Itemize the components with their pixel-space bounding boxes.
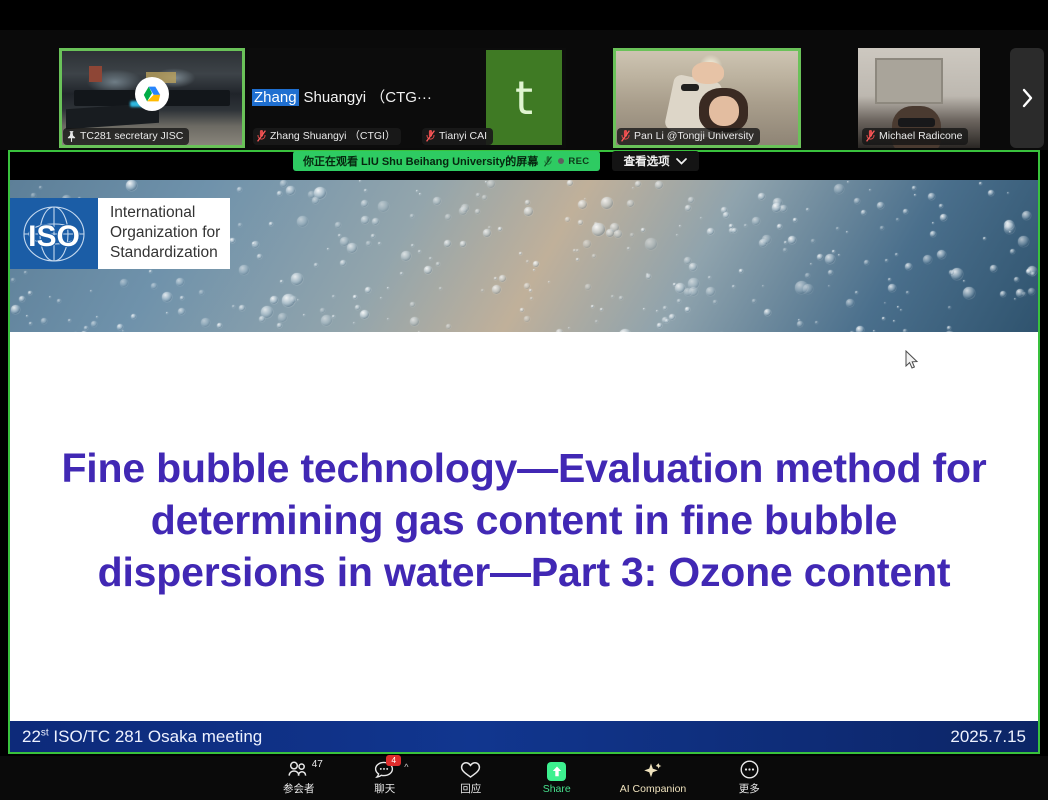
tile-name-text: Michael Radicone <box>879 129 962 143</box>
video-tile-michael-radicone[interactable]: Michael Radicone <box>858 48 980 148</box>
toolbar-reactions-button[interactable]: 回应 <box>448 760 494 796</box>
tile-name-chip: Tianyi CAI <box>422 128 493 145</box>
pin-icon <box>67 131 76 142</box>
iso-logo-wordmark: International Organization for Standardi… <box>98 198 230 269</box>
toolbar-ai-companion-button[interactable]: AI Companion <box>620 762 687 795</box>
next-page-button[interactable] <box>1010 48 1044 148</box>
heart-icon <box>460 760 481 779</box>
video-tile-tc281-secretary[interactable]: TC281 secretary JISC <box>59 48 245 148</box>
slide-title: Fine bubble technology—Evaluation method… <box>59 442 989 598</box>
toolbar-share-label: Share <box>543 783 571 795</box>
share-status-text: 你正在观看 LIU Shu Beihang University的屏幕 <box>303 153 538 169</box>
mic-muted-icon <box>257 130 266 142</box>
toolbar-more-label: 更多 <box>739 781 760 796</box>
tile-decor <box>692 62 724 84</box>
iso-logo: ISO International Organization for Stand… <box>10 198 230 269</box>
share-status-pill: 你正在观看 LIU Shu Beihang University的屏幕 REC <box>293 151 600 171</box>
toolbar-ai-companion-label: AI Companion <box>620 783 687 795</box>
tile-decor <box>898 118 935 127</box>
toolbar-more-button[interactable]: 更多 <box>726 760 772 796</box>
iso-logo-line-3: Standardization <box>110 243 220 263</box>
tile-name-chip: Michael Radicone <box>862 128 968 145</box>
iso-logo-line-1: International <box>110 203 220 223</box>
tile-name-chip: TC281 secretary JISC <box>63 128 189 145</box>
tile-decor <box>681 84 700 91</box>
view-options-label: 查看选项 <box>624 153 670 169</box>
footer-meeting-number: 22 <box>22 727 41 746</box>
avatar-letter: t <box>515 75 533 121</box>
record-dot-icon <box>558 158 564 164</box>
screen-share-status-bar: 你正在观看 LIU Shu Beihang University的屏幕 REC … <box>293 151 699 171</box>
active-speaker-banner: Zhang Shuangyi （CTG··· <box>252 86 432 107</box>
slide-title-area: Fine bubble technology—Evaluation method… <box>10 355 1038 685</box>
chat-icon: 4 ^ <box>374 760 395 779</box>
footer-ordinal-suffix: st <box>41 727 49 738</box>
participants-icon: 47 <box>288 760 310 779</box>
recording-label: REC <box>568 156 589 167</box>
tile-decor <box>709 96 739 126</box>
presentation-slide: ISO International Organization for Stand… <box>10 180 1038 752</box>
chevron-up-icon[interactable]: ^ <box>404 762 408 772</box>
slide-footer-left: 22st ISO/TC 281 Osaka meeting <box>22 727 262 747</box>
active-speaker-rest: Shuangyi （CTG··· <box>304 86 432 107</box>
chevron-right-icon <box>1021 88 1034 108</box>
mic-muted-icon <box>866 130 875 142</box>
mic-muted-icon <box>544 156 552 167</box>
drive-badge-icon <box>135 77 169 111</box>
tile-name-text: TC281 secretary JISC <box>80 129 183 143</box>
iso-logo-line-2: Organization for <box>110 223 220 243</box>
more-dots-icon <box>740 760 759 779</box>
slide-footer-date: 2025.7.15 <box>950 727 1026 747</box>
iso-globe-icon: ISO <box>17 203 91 265</box>
sparkle-icon <box>642 762 664 781</box>
tile-decor <box>875 58 942 104</box>
toolbar-reactions-label: 回应 <box>460 781 481 796</box>
view-options-button[interactable]: 查看选项 <box>612 151 699 171</box>
avatar: t <box>486 50 562 145</box>
recording-indicator: REC <box>558 156 589 167</box>
tile-name-text: Tianyi CAI <box>439 129 487 143</box>
tile-name-text: Zhang Shuangyi （CTGI） <box>270 129 395 143</box>
tile-name-text: Pan Li @Tongji University <box>634 129 754 143</box>
footer-meeting-name: ISO/TC 281 Osaka meeting <box>49 727 263 746</box>
video-tile-pan-li[interactable]: Pan Li @Tongji University <box>613 48 801 148</box>
video-filmstrip: TC281 secretary JISC Zhang Shuangyi （CTG… <box>0 30 1048 150</box>
toolbar-chat-button[interactable]: 4 ^ 聊天 <box>362 760 408 796</box>
participants-count: 47 <box>312 759 323 770</box>
chat-unread-badge: 4 <box>386 755 401 766</box>
slide-footer: 22st ISO/TC 281 Osaka meeting 2025.7.15 <box>10 721 1038 752</box>
toolbar-participants-button[interactable]: 47 参会者 <box>276 760 322 796</box>
active-speaker-highlight: Zhang <box>252 89 299 106</box>
mic-muted-icon <box>426 130 435 142</box>
share-icon-box <box>547 762 566 781</box>
chevron-down-icon <box>676 158 687 165</box>
zoom-meeting-window: TC281 secretary JISC Zhang Shuangyi （CTG… <box>0 0 1048 800</box>
tile-decor <box>89 66 102 82</box>
tile-name-chip: Zhang Shuangyi （CTGI） <box>253 128 401 145</box>
mouse-pointer-icon <box>905 350 919 370</box>
shared-screen-frame: ISO International Organization for Stand… <box>8 150 1040 754</box>
iso-logo-mark: ISO <box>10 198 98 269</box>
toolbar-chat-label: 聊天 <box>374 781 395 796</box>
mic-muted-icon <box>621 130 630 142</box>
toolbar-participants-label: 参会者 <box>283 781 315 796</box>
share-screen-icon <box>547 762 566 781</box>
bubble-banner-image: ISO International Organization for Stand… <box>10 180 1038 332</box>
video-tile-tianyi-cai[interactable]: t Tianyi CAI <box>418 48 566 148</box>
toolbar-share-button[interactable]: Share <box>534 762 580 795</box>
tile-name-chip: Pan Li @Tongji University <box>617 128 760 145</box>
meeting-toolbar: 47 参会者 4 ^ 聊天 回应 Share <box>0 756 1048 800</box>
svg-text:ISO: ISO <box>28 220 80 253</box>
